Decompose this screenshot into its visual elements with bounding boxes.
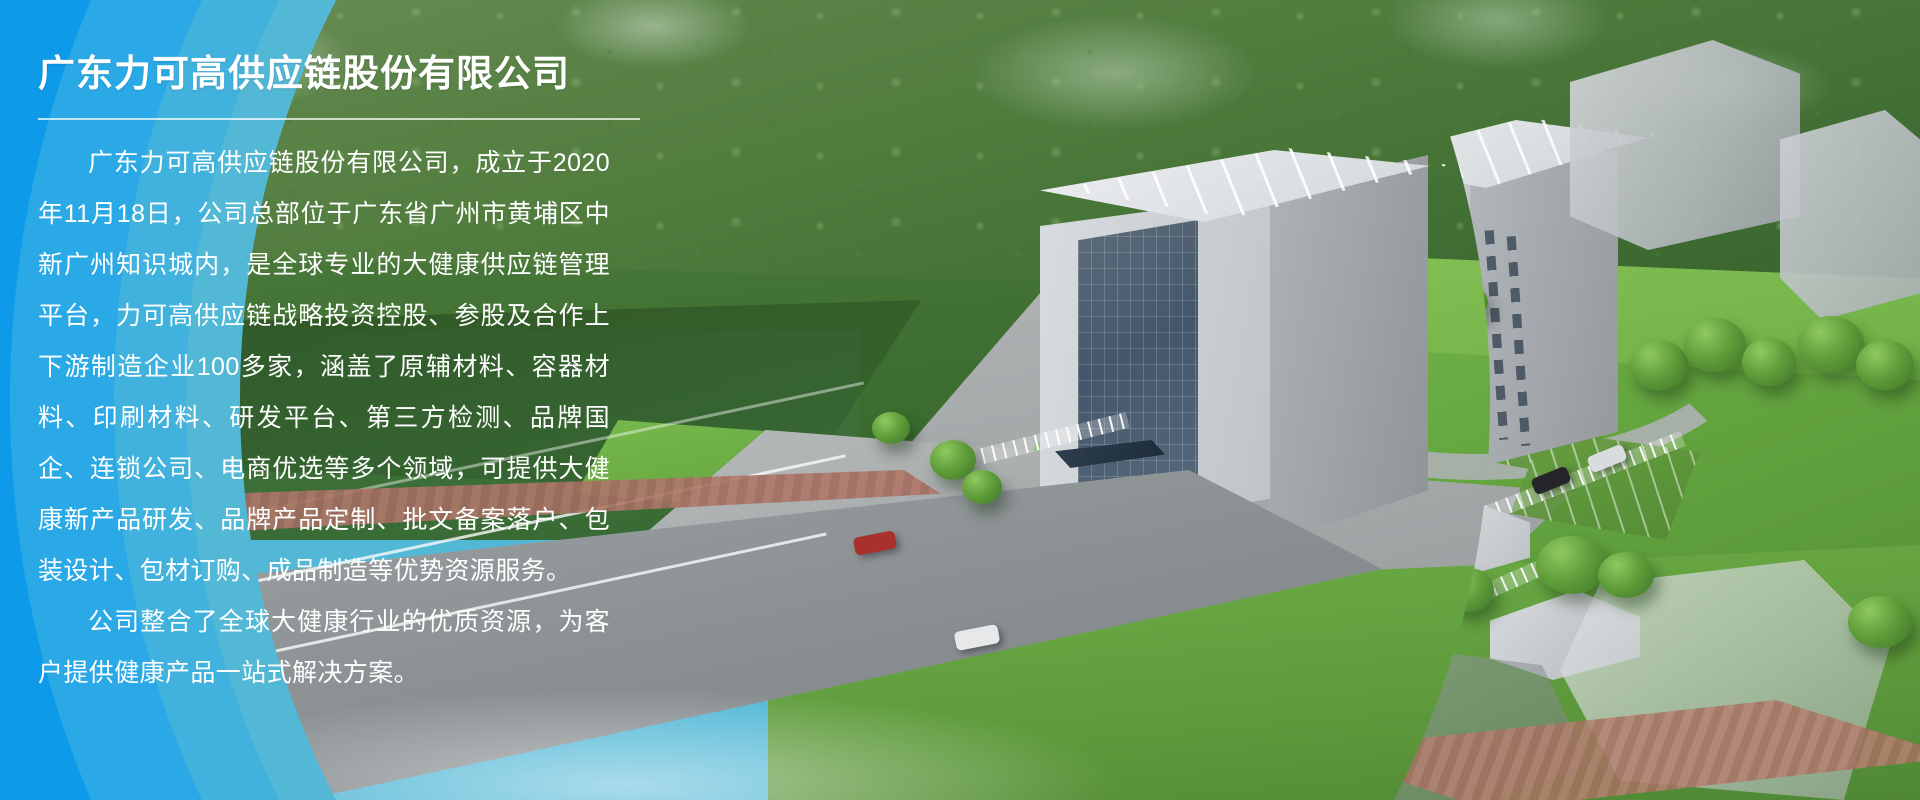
- far-building-block: [1780, 110, 1920, 320]
- tree: [1630, 340, 1688, 390]
- tree: [1848, 596, 1912, 648]
- description-paragraph-2: 公司整合了全球大健康行业的优质资源，为客户提供健康产品一站式解决方案。: [38, 597, 610, 699]
- tree: [872, 412, 910, 444]
- description-paragraph-1: 广东力可高供应链股份有限公司，成立于2020年11月18日，公司总部位于广东省广…: [38, 138, 610, 597]
- text-column: 广东力可高供应链股份有限公司 广东力可高供应链股份有限公司，成立于2020年11…: [0, 0, 640, 800]
- tower-a-curtain-wall: [1078, 220, 1198, 510]
- company-title: 广东力可高供应链股份有限公司: [38, 0, 610, 96]
- tree: [1798, 316, 1864, 372]
- tree: [1598, 552, 1654, 598]
- tree: [1742, 338, 1796, 386]
- company-description: 广东力可高供应链股份有限公司，成立于2020年11月18日，公司总部位于广东省广…: [38, 120, 610, 699]
- tree: [1684, 318, 1746, 372]
- tree: [962, 470, 1002, 504]
- tower-a-side-face: [1268, 155, 1428, 545]
- tree: [1536, 536, 1608, 594]
- tree: [1856, 340, 1914, 390]
- company-profile-banner: 广东力可高供应链股份有限公司 广东力可高供应链股份有限公司，成立于2020年11…: [0, 0, 1920, 800]
